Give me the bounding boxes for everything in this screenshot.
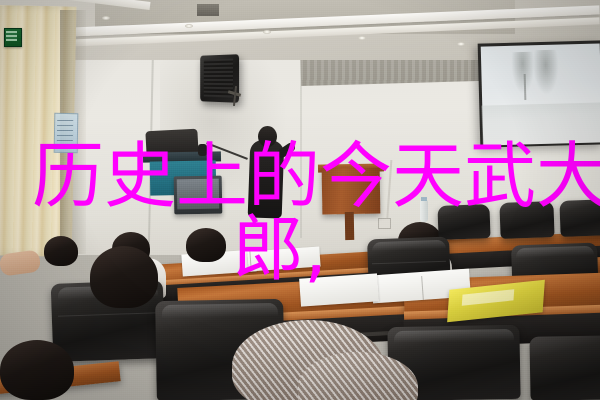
wall-poster-text: [57, 118, 73, 146]
ceiling-vent: [197, 4, 219, 16]
chair: [499, 201, 554, 239]
chair-highlight: [372, 240, 446, 258]
wall-outlet: [378, 218, 391, 229]
audience-head: [186, 228, 226, 262]
exit-sign-glyph: [6, 31, 17, 41]
water-bottle-cap: [421, 197, 427, 201]
screenshot-canvas: 历史上的今天武大 郎,: [0, 0, 600, 400]
av-monitor-screen: [177, 179, 220, 210]
chair-highlight: [516, 246, 595, 265]
chair-highlight: [394, 329, 514, 351]
lectern-leg: [345, 212, 354, 240]
ceiling-downlight: [102, 16, 110, 20]
projection-screen-tree: [530, 50, 561, 101]
projection-screen-horizon: [481, 102, 600, 145]
chair: [559, 199, 600, 237]
chair-highlight: [162, 303, 278, 327]
audience-arm: [0, 249, 41, 276]
lectern: [322, 167, 381, 214]
paper-handout: [299, 273, 379, 306]
chair: [529, 335, 600, 400]
audience-head-foreground: [0, 340, 74, 400]
audience-head: [44, 236, 78, 266]
water-bottle: [420, 200, 428, 222]
chair: [437, 204, 490, 240]
ceiling-downlight: [263, 30, 271, 34]
ceiling-downlight: [457, 42, 465, 46]
audience-head-foreground: [90, 246, 158, 308]
ceiling-downlight: [185, 24, 193, 28]
presenter-head: [258, 126, 277, 147]
microphone: [198, 144, 207, 156]
ceiling-downlight: [358, 36, 366, 40]
